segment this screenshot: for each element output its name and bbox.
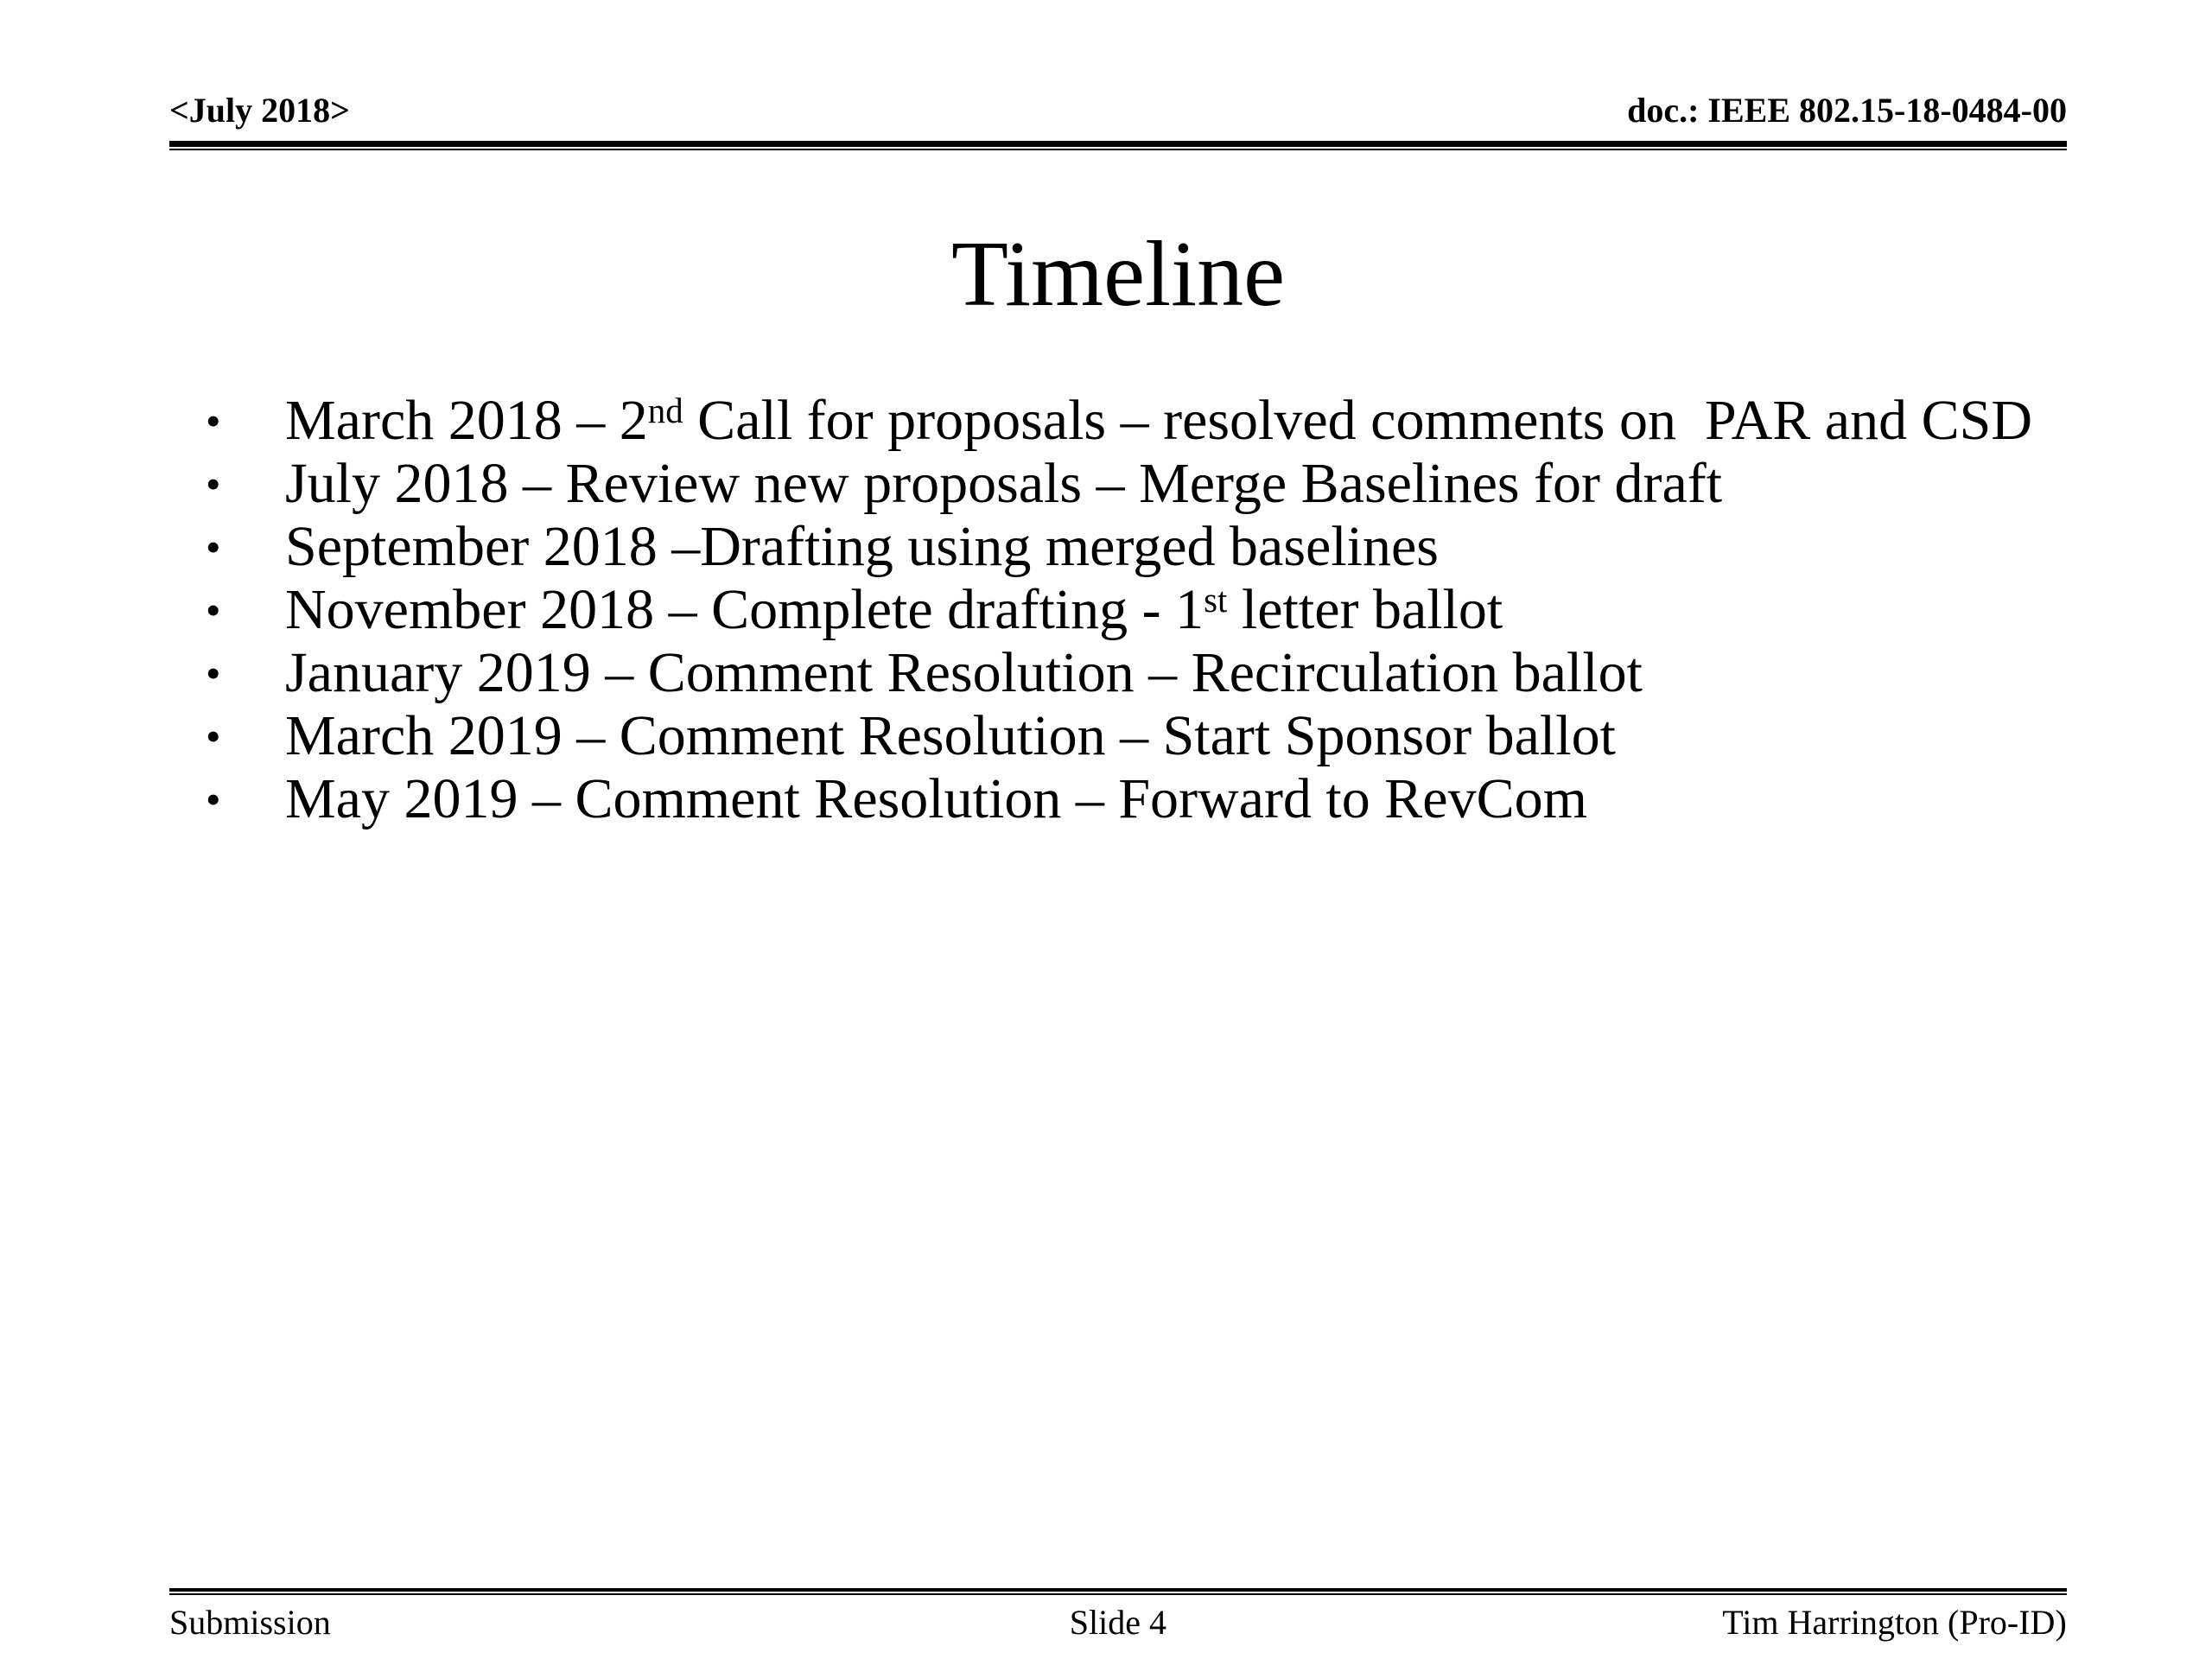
list-item: • May 2019 – Comment Resolution – Forwar… (181, 769, 2117, 830)
bullet-point-icon: • (181, 454, 285, 515)
header-divider-rule-second-line (169, 149, 2067, 150)
bullet-list: • March 2018 – 2nd Call for proposals – … (181, 391, 2117, 832)
page-title: Timeline (169, 223, 2067, 327)
list-item: • March 2018 – 2nd Call for proposals – … (181, 391, 2117, 452)
bullet-point-icon: • (181, 580, 285, 641)
footer-divider-rule-second-line (169, 1593, 2067, 1595)
list-item-text-after: letter ballot (1227, 578, 1503, 641)
list-item-text: May 2019 – Comment Resolution – Forward … (285, 769, 2074, 830)
list-item: • July 2018 – Review new proposals – Mer… (181, 454, 2117, 515)
list-item-text-before: November 2018 – Complete drafting - 1 (285, 578, 1204, 641)
bullet-point-icon: • (181, 517, 285, 578)
list-item: • November 2018 – Complete drafting - 1s… (181, 580, 2117, 641)
footer-slide-number: Slide 4 (802, 1604, 1434, 1642)
bullet-point-icon: • (181, 769, 285, 830)
slide-canvas: <July 2018> doc.: IEEE 802.15-18-0484-00… (0, 0, 2212, 1659)
bullet-point-icon: • (181, 391, 285, 452)
list-item-text: January 2019 – Comment Resolution – Reci… (285, 643, 2074, 704)
footer-divider-rule (169, 1588, 2067, 1593)
header-document-number: doc.: IEEE 802.15-18-0484-00 (1627, 93, 2067, 128)
list-item: • March 2019 – Comment Resolution – Star… (181, 706, 2117, 767)
bullet-point-icon: • (181, 706, 285, 767)
footer-submission-label: Submission (169, 1604, 802, 1642)
list-item-text: July 2018 – Review new proposals – Merge… (285, 454, 2074, 515)
slide-header: <July 2018> doc.: IEEE 802.15-18-0484-00 (169, 93, 2067, 128)
footer-author-label: Tim Harrington (Pro-ID) (1434, 1604, 2067, 1642)
list-item: • September 2018 –Drafting using merged … (181, 517, 2117, 578)
bullet-point-icon: • (181, 643, 285, 704)
list-item-text: September 2018 –Drafting using merged ba… (285, 517, 2074, 578)
ordinal-superscript: nd (648, 391, 683, 430)
ordinal-superscript: st (1204, 581, 1227, 620)
slide-footer: Submission Slide 4 Tim Harrington (Pro-I… (169, 1604, 2067, 1642)
list-item-text-after: Call for proposals – resolved comments o… (683, 389, 2032, 452)
list-item-text: November 2018 – Complete drafting - 1st … (285, 580, 2074, 641)
list-item-text: March 2018 – 2nd Call for proposals – re… (285, 391, 2074, 452)
list-item: • January 2019 – Comment Resolution – Re… (181, 643, 2117, 704)
header-divider-rule (169, 141, 2067, 147)
header-date-label: <July 2018> (169, 93, 350, 128)
list-item-text-before: March 2018 – 2 (285, 389, 648, 452)
list-item-text: March 2019 – Comment Resolution – Start … (285, 706, 2074, 767)
footer-divider-rule-first-line (169, 1588, 2067, 1592)
